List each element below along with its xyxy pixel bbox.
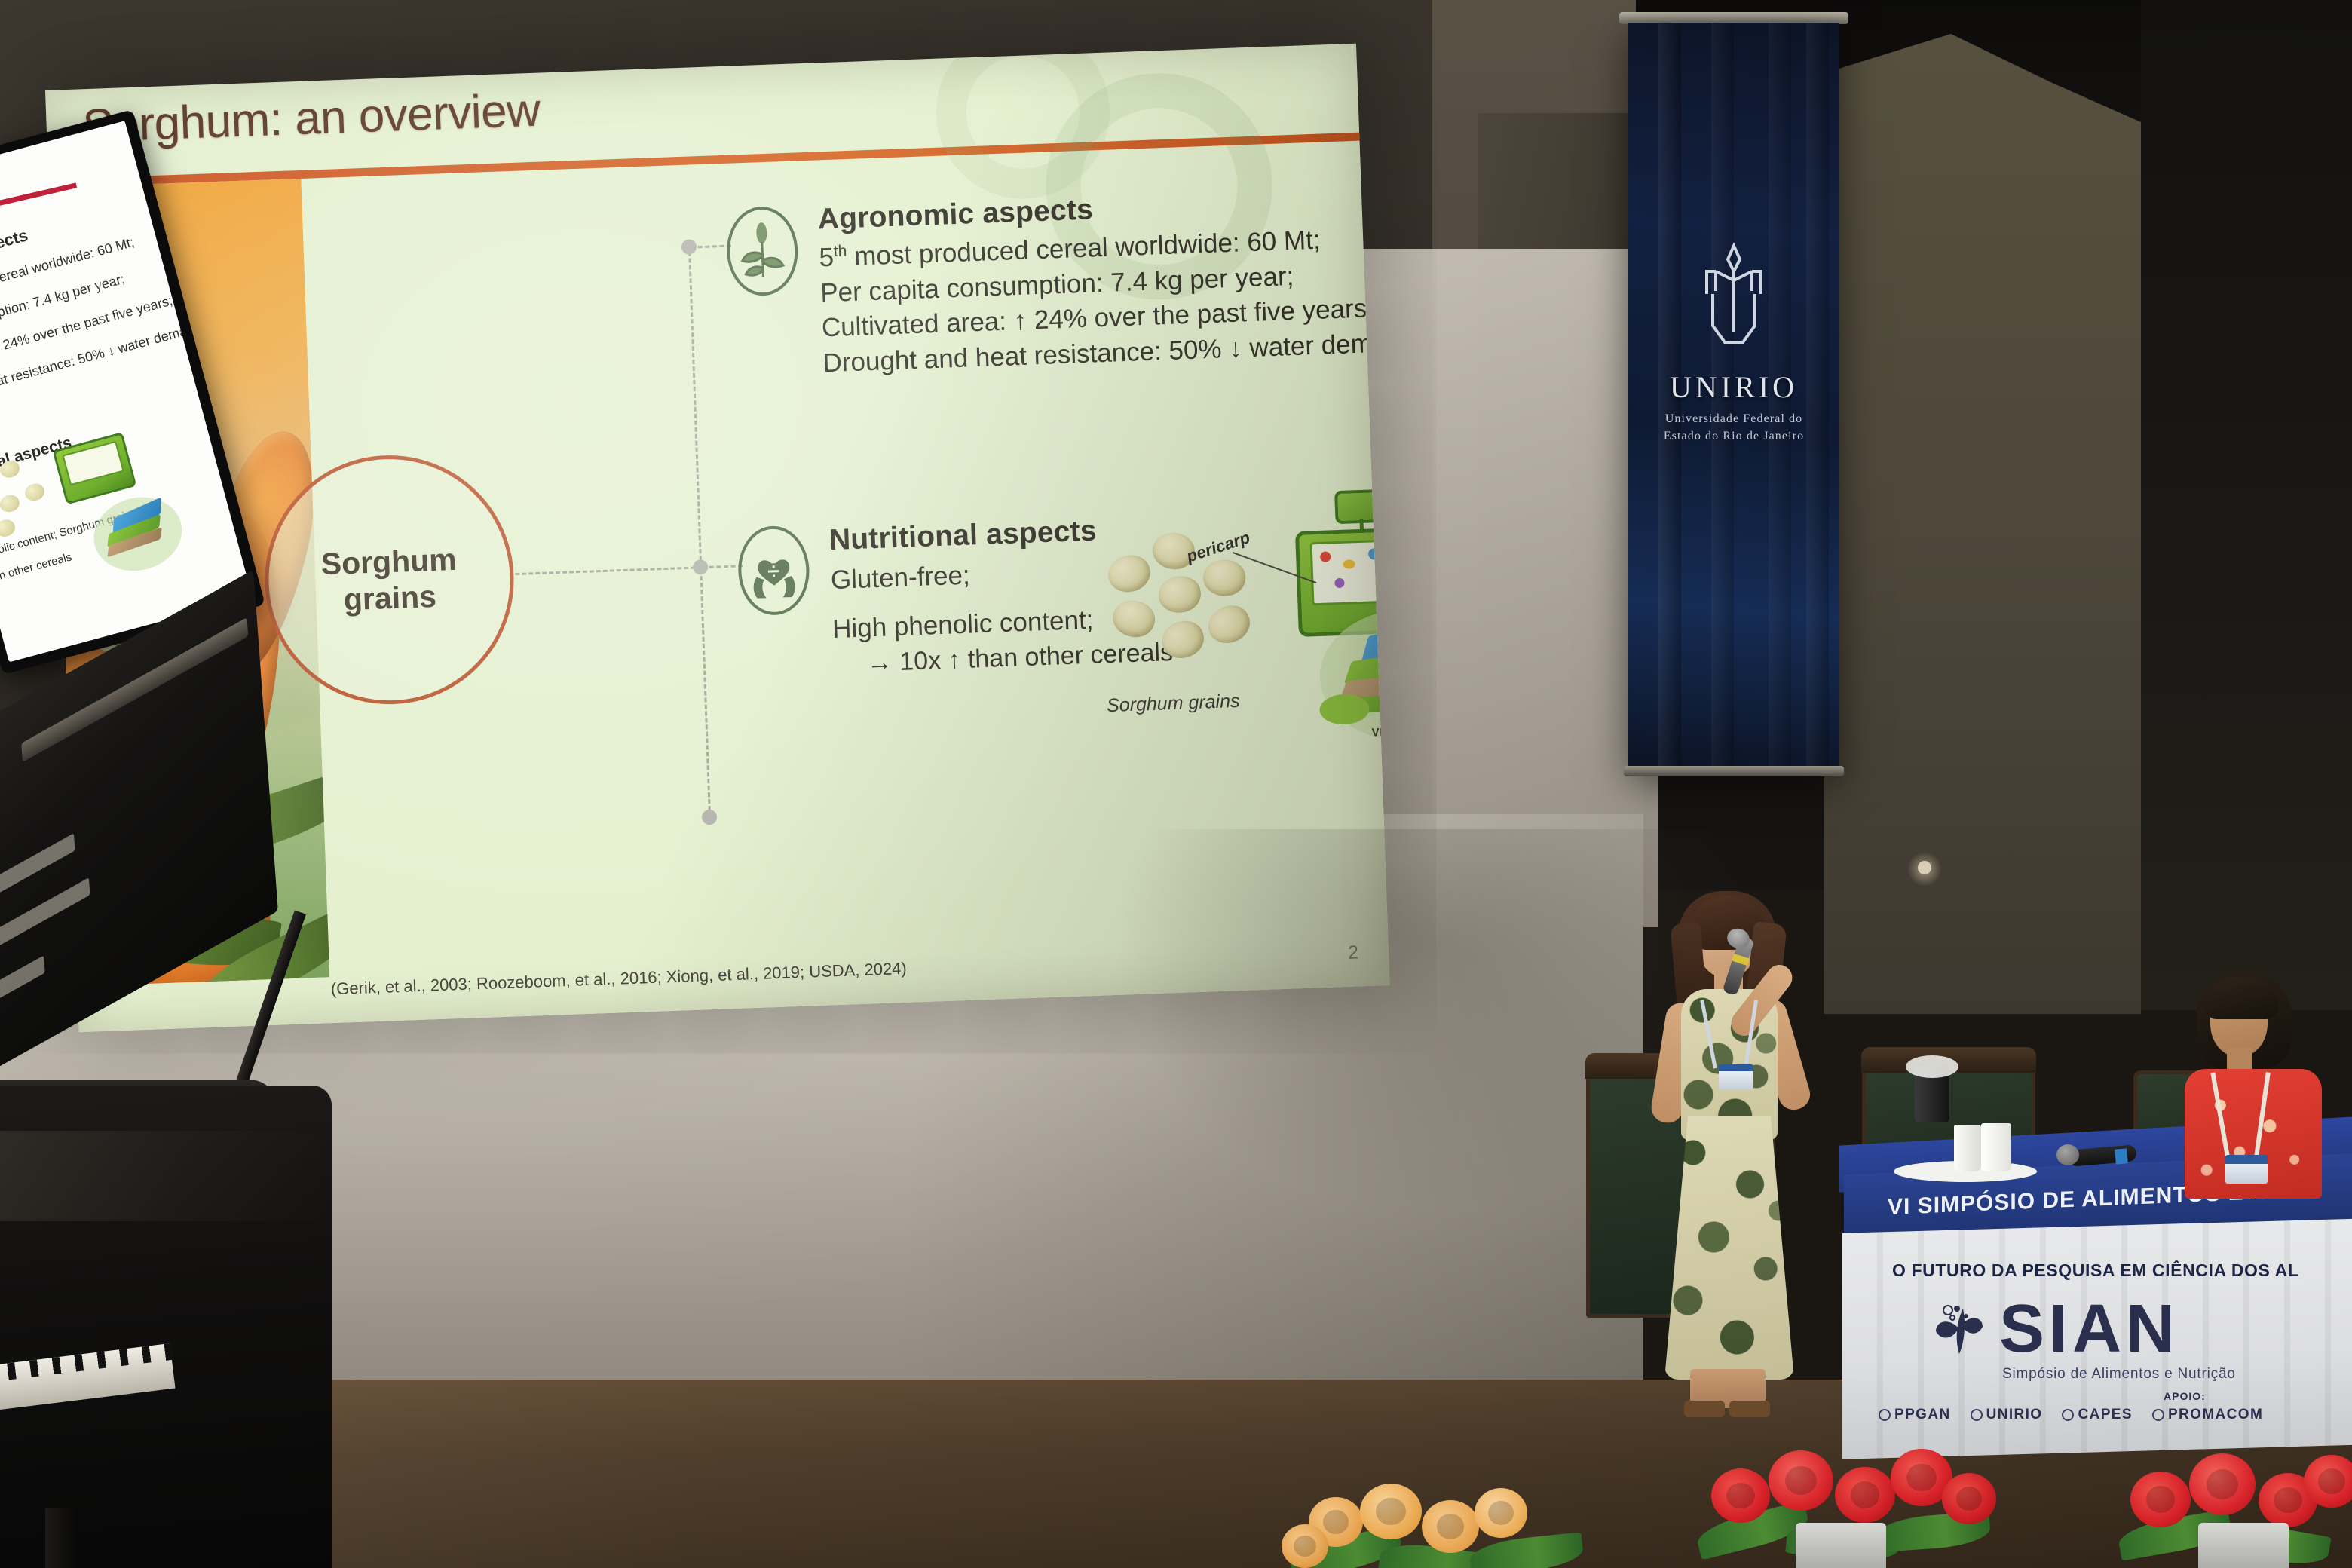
connector-line [515, 566, 702, 575]
red-bloom [1711, 1468, 1770, 1523]
sponsor-mark-icon [1971, 1409, 1983, 1421]
center-node-line2: grains [343, 578, 437, 618]
red-bloom [2304, 1455, 2352, 1508]
grain-icon [1202, 600, 1255, 650]
slide-citation: (Gerik, et al., 2003; Roozeboom, et al.,… [330, 959, 907, 999]
banner-university-subtitle: Universidade Federal do Estado do Rio de… [1628, 410, 1839, 445]
sorghum-plant-icon [725, 205, 799, 296]
red-bloom [1835, 1467, 1895, 1523]
orange-bloom [1422, 1500, 1479, 1553]
grain-icon [0, 493, 21, 514]
grain-icon [1157, 617, 1208, 663]
sponsor-promacom: PROMACOM [2152, 1407, 2263, 1423]
banner-university-name: UNIRIO [1628, 369, 1839, 405]
sian-leaf-icon [1930, 1298, 1989, 1361]
fern-leaf [1468, 1532, 1585, 1568]
sian-logo: SIAN [1930, 1298, 2179, 1361]
flower-pot [1796, 1523, 1886, 1568]
flower-arrangement-red [1696, 1432, 1998, 1568]
sponsor-capes: CAPES [2062, 1407, 2132, 1423]
sponsor-mark-icon [2062, 1409, 2074, 1421]
grain-icon [1108, 596, 1159, 642]
connector-node-dot [693, 559, 709, 575]
apoio-label: APOIO: [2164, 1390, 2206, 1402]
flower-pot [2198, 1523, 2289, 1568]
organelle-icon [1320, 551, 1331, 562]
red-bloom [1769, 1450, 1833, 1511]
conference-badge [2225, 1155, 2268, 1184]
sian-subtitle: Simpósio de Alimentos e Nutrição [2002, 1366, 2236, 1383]
slide-title: Sorghum: an overview [81, 84, 541, 154]
monitor-cell-interior [62, 441, 124, 486]
monitor-title-rule [0, 182, 77, 231]
piano-leg [45, 1508, 78, 1568]
speaker-presenter [1642, 890, 1815, 1432]
thermos-doily-cover [1906, 1055, 1958, 1078]
monitor-line-6: 10x ↑ than other cereals [0, 550, 73, 594]
heart-in-hands-icon [737, 525, 810, 616]
orange-bloom [1475, 1488, 1527, 1538]
wall-lamp-icon [1918, 861, 1931, 874]
red-bloom [2130, 1472, 2191, 1527]
sian-wordmark: SIAN [1999, 1299, 2179, 1360]
dress-floral-pattern [1664, 1116, 1794, 1380]
agronomic-aspects-block: Agronomic aspects 5th most produced cere… [817, 185, 1336, 381]
speaker-shoe [1729, 1401, 1770, 1417]
table-microphone-head-icon [2056, 1144, 2079, 1165]
sponsor-mark-icon [1879, 1409, 1891, 1421]
grains-caption: Sorghum grains [1107, 691, 1240, 717]
flower-arrangement-orange [1282, 1478, 1598, 1568]
banner-sub-line-2: Estado do Rio de Janeiro [1628, 427, 1839, 445]
wall-panel-right [1824, 34, 2141, 1014]
conference-badge [1719, 1064, 1753, 1090]
unirio-banner: UNIRIO Universidade Federal do Estado do… [1628, 15, 1839, 784]
organelle-icon [1343, 559, 1355, 569]
red-bloom [2189, 1453, 2256, 1515]
unirio-trident-crest-icon [1698, 241, 1770, 354]
orange-bloom [1360, 1484, 1422, 1539]
paper-cup [1981, 1123, 2011, 1171]
speaker-shoe [1684, 1401, 1725, 1417]
grain-icon [1104, 552, 1153, 596]
paper-cup [1954, 1125, 1981, 1171]
grand-piano [0, 739, 377, 1568]
grain-icon [23, 482, 47, 503]
sponsor-logos: PPGAN UNIRIO CAPES PROMACOM [1879, 1407, 2263, 1423]
orange-bloom [1282, 1524, 1328, 1568]
presentation-photo-scene: Sorghum: an overview [0, 0, 2352, 1568]
banner-bottom-rod [1624, 766, 1844, 776]
grain-icon [0, 518, 17, 539]
sponsor-mark-icon [2152, 1409, 2164, 1421]
sponsor-ppgan: PPGAN [1879, 1407, 1951, 1423]
flower-arrangement-red-right [2126, 1440, 2352, 1568]
grain-icon [1157, 574, 1203, 615]
banner-sub-line-1: Universidade Federal do [1628, 410, 1839, 427]
connector-branch [702, 565, 743, 568]
table-microphone-band [2115, 1148, 2128, 1164]
center-node-line1: Sorghum [320, 541, 458, 583]
connector-node-dot [681, 239, 697, 255]
connector-branch [691, 245, 731, 249]
red-bloom [1942, 1473, 1996, 1524]
organelle-icon [1334, 578, 1344, 588]
connector-spine [688, 245, 711, 818]
panelist-hair-front [2204, 977, 2278, 1019]
plant-cell-diagram: VEGETAL CELL WALL Primary cell wall Cell… [1265, 492, 1389, 749]
wall-panel-far-right [2141, 0, 2352, 1010]
connector-node-dot [702, 810, 718, 825]
grain-icon [1202, 559, 1247, 598]
seated-panelist [2171, 972, 2352, 1199]
sponsor-unirio: UNIRIO [1971, 1407, 2043, 1423]
symposium-tagline: O FUTURO DA PESQUISA EM CIÊNCIA DOS AL [1892, 1260, 2298, 1281]
speaker-skirt [1664, 1116, 1794, 1380]
piano-body-highlight [0, 1131, 332, 1221]
